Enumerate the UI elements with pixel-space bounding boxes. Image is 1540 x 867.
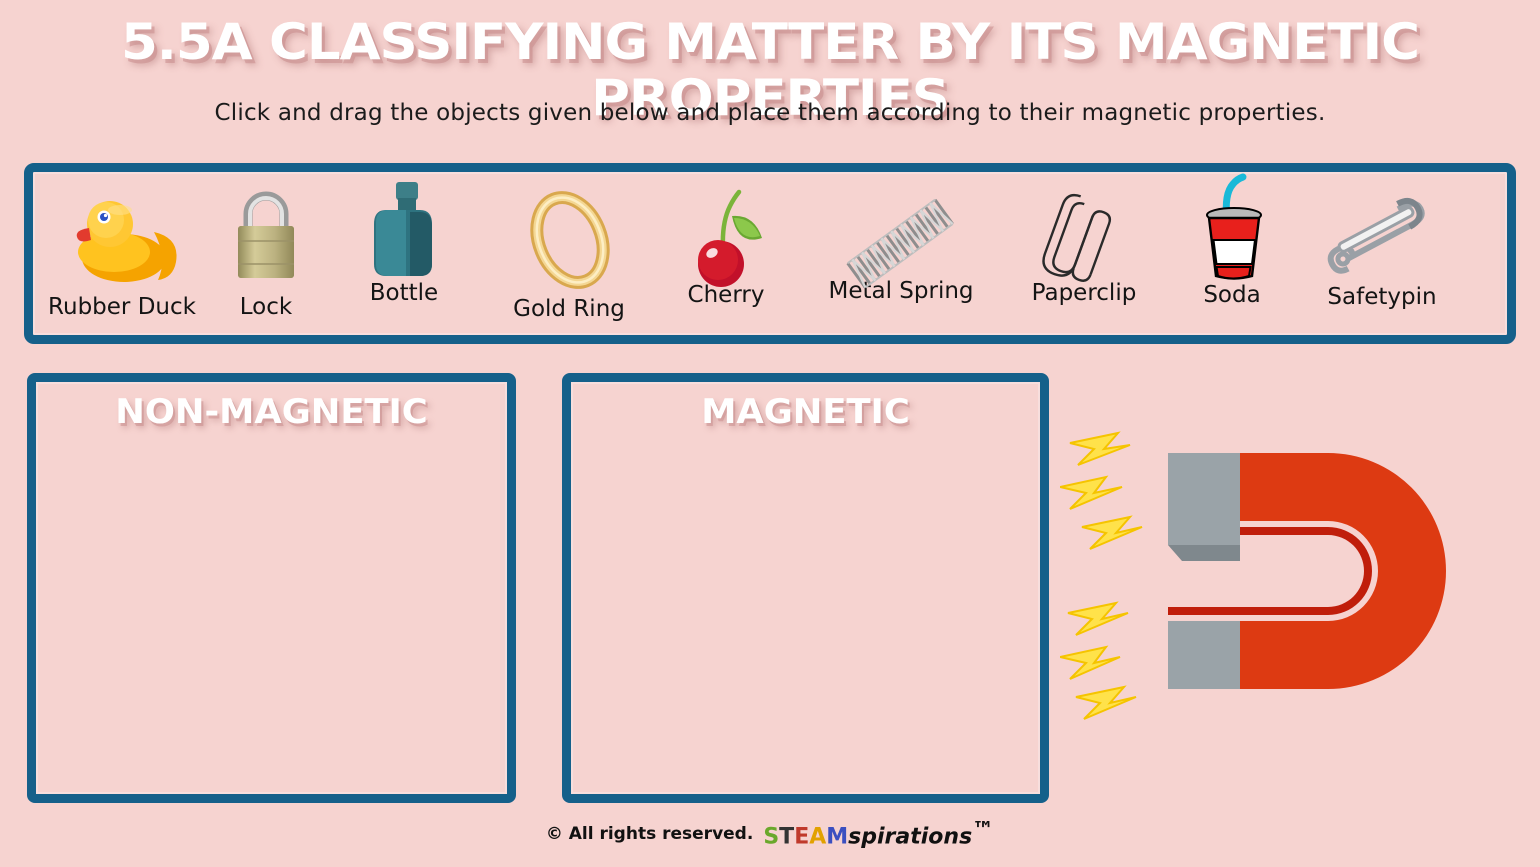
safety-pin-icon [1297, 186, 1467, 278]
paperclip-icon [1001, 184, 1167, 276]
tray-item-soda[interactable]: Soda [1167, 174, 1297, 308]
copyright-text: © All rights reserved. [546, 824, 753, 844]
gold-ring-icon [487, 194, 651, 286]
tray-item-paperclip[interactable]: Paperclip [1001, 184, 1167, 306]
bottle-icon [321, 186, 487, 278]
logo-letter-t: T [779, 825, 794, 850]
dropzone-title: Magnetic [562, 392, 1050, 432]
object-tray: Rubber Duck [24, 163, 1516, 344]
tray-item-safetypin[interactable]: Safetypin [1297, 186, 1467, 310]
tray-item-lock[interactable]: Lock [211, 192, 321, 320]
activity-canvas: 5.5A Classifying Matter by its Magnetic … [0, 0, 1540, 867]
logo-letter-m: M [826, 825, 848, 850]
tray-item-label: Gold Ring [487, 296, 651, 322]
dropzone-non-magnetic[interactable]: Non-Magnetic [27, 373, 516, 803]
logo-letter-s: S [763, 825, 779, 850]
instruction-text: Click and drag the objects given below a… [0, 100, 1540, 126]
soda-cup-icon [1167, 174, 1297, 266]
steamspirations-logo: STEAMspirations™ [763, 818, 994, 850]
tray-item-metal-spring[interactable]: Metal Spring [801, 180, 1001, 304]
logo-letter-e: E [794, 825, 809, 850]
tray-item-label: Rubber Duck [33, 294, 211, 320]
rubber-duck-icon [33, 192, 211, 284]
dropzone-title: Non-Magnetic [27, 392, 517, 432]
logo-word: spirations [848, 825, 972, 850]
tray-item-label: Lock [211, 294, 321, 320]
padlock-icon [211, 192, 321, 284]
trademark-mark: ™ [972, 818, 994, 843]
footer: © All rights reserved.STEAMspirations™ [0, 818, 1540, 850]
horseshoe-magnet-icon [1060, 415, 1530, 745]
cherry-icon [651, 182, 801, 274]
metal-spring-icon [801, 180, 1001, 272]
tray-item-bottle[interactable]: Bottle [321, 186, 487, 306]
dropzone-magnetic[interactable]: Magnetic [562, 373, 1049, 803]
tray-item-rubber-duck[interactable]: Rubber Duck [33, 192, 211, 320]
tray-item-gold-ring[interactable]: Gold Ring [487, 194, 651, 322]
tray-item-cherry[interactable]: Cherry [651, 182, 801, 308]
logo-letter-a: A [809, 825, 826, 850]
tray-item-label: Safetypin [1297, 284, 1467, 310]
spark-group [1060, 433, 1142, 719]
